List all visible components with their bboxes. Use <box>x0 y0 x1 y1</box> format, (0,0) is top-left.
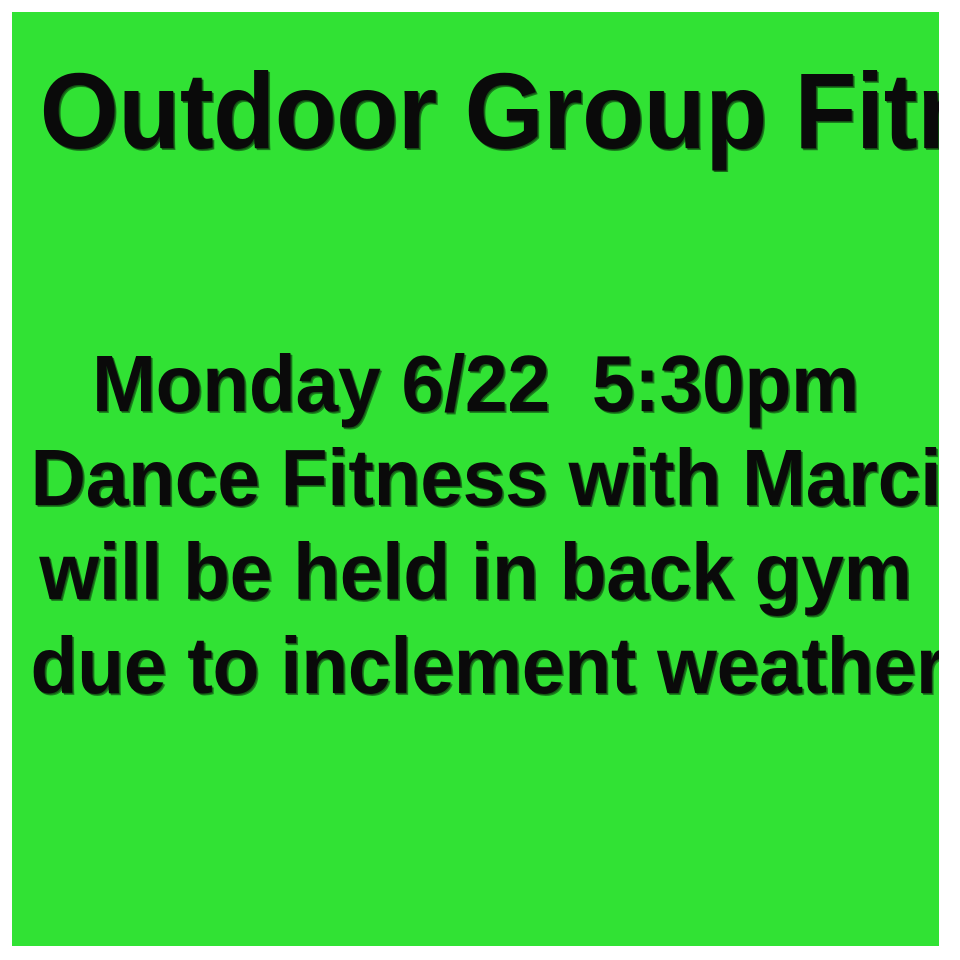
poster-canvas: Outdoor Group Fitness Monday 6/22 5:30pm… <box>0 0 960 960</box>
flyer-body-line-datetime: Monday 6/22 5:30pm <box>31 337 921 431</box>
flyer-body-text: Monday 6/22 5:30pm Dance Fitness with Ma… <box>12 337 939 713</box>
flyer-body-line-location: will be held in back gym <box>31 525 921 619</box>
flyer-title: Outdoor Group Fitness <box>40 56 911 166</box>
flyer-body-line-reason: due to inclement weather <box>31 619 921 713</box>
flyer-green-panel: Outdoor Group Fitness Monday 6/22 5:30pm… <box>12 12 939 946</box>
flyer-body-line-class: Dance Fitness with Marcie <box>31 431 921 525</box>
